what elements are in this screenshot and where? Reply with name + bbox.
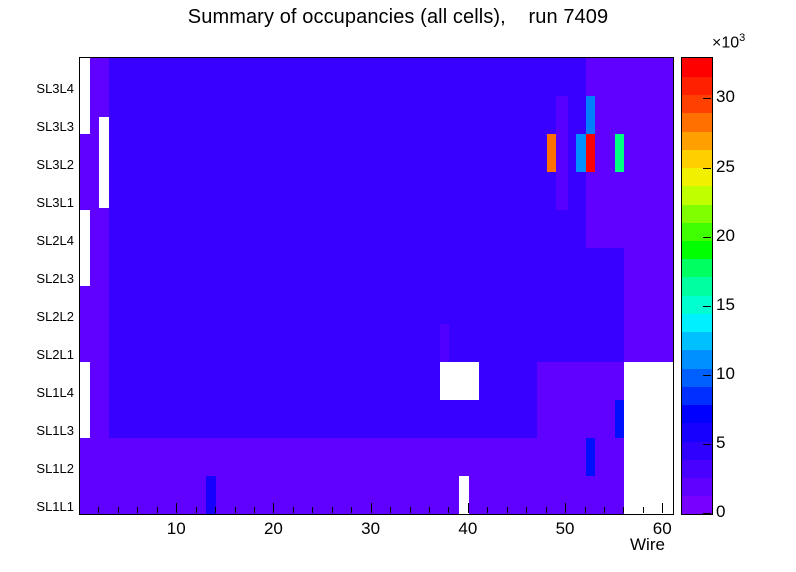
x-tick-6	[137, 507, 138, 513]
y-tick-label-SL1L3: SL1L3	[0, 423, 74, 438]
x-tick-36	[429, 507, 430, 513]
heatmap-right-edge-column	[624, 58, 673, 362]
heatmap-empty-sl1l4-w38-41	[440, 362, 479, 400]
colorbar-segment-8	[682, 350, 712, 369]
x-tick-58	[643, 507, 644, 513]
heatmap-cell-hot-sl3l2-w49b	[547, 134, 557, 172]
x-tick-label-50: 50	[545, 519, 585, 539]
x-tick-14	[215, 507, 216, 513]
colorbar-segment-5	[682, 405, 712, 424]
x-tick-18	[254, 507, 255, 513]
colorbar[interactable]	[681, 57, 713, 515]
y-tick-label-SL1L1: SL1L1	[0, 499, 74, 514]
y-tick-label-SL3L2: SL3L2	[0, 157, 74, 172]
heatmap-cell-sl2l1-w38	[440, 324, 450, 362]
colorbar-segment-10	[682, 313, 712, 332]
heatmap-empty-sl2l4-w1	[80, 210, 90, 248]
x-tick-48	[546, 507, 547, 513]
x-tick-50	[565, 503, 566, 513]
colorbar-segment-14	[682, 240, 712, 259]
colorbar-segment-18	[682, 167, 712, 186]
colorbar-segment-17	[682, 186, 712, 205]
x-tick-26	[332, 507, 333, 513]
colorbar-tick-20	[703, 237, 711, 238]
heatmap-plot-area[interactable]	[79, 57, 674, 515]
x-tick-16	[235, 507, 236, 513]
y-tick-label-SL1L2: SL1L2	[0, 461, 74, 476]
x-tick-46	[526, 507, 527, 513]
y-tick-label-SL1L4: SL1L4	[0, 385, 74, 400]
x-tick-52	[585, 507, 586, 513]
heatmap-cell-sl3-w50	[556, 96, 568, 210]
x-tick-28	[351, 507, 352, 513]
colorbar-segment-15	[682, 222, 712, 241]
heatmap-cell-hot-sl3l2-w52b	[576, 134, 586, 172]
heatmap-empty-sl3-w3	[99, 117, 109, 208]
colorbar-tick-0	[703, 513, 711, 514]
x-tick-4	[118, 507, 119, 513]
y-tick-label-SL2L4: SL2L4	[0, 233, 74, 248]
heatmap-empty-sl2l3-w1	[80, 248, 90, 286]
x-tick-12	[196, 507, 197, 513]
x-tick-30	[371, 503, 372, 513]
y-tick-label-SL3L4: SL3L4	[0, 81, 74, 96]
x-tick-38	[448, 507, 449, 513]
colorbar-segment-13	[682, 259, 712, 278]
x-tick-2	[98, 507, 99, 513]
y-tick-label-SL2L2: SL2L2	[0, 309, 74, 324]
x-tick-34	[410, 507, 411, 513]
colorbar-segment-23	[682, 76, 712, 95]
heatmap-lower-right-patch2	[508, 438, 625, 514]
colorbar-tick-5	[703, 444, 711, 445]
heatmap-cell-hot-sl3l2-w56b	[615, 134, 625, 172]
heatmap-cell-hot-sl3l2-w53b	[586, 134, 596, 172]
colorbar-segment-16	[682, 204, 712, 223]
x-tick-44	[507, 507, 508, 513]
x-tick-label-30: 30	[351, 519, 391, 539]
x-tick-54	[604, 507, 605, 513]
x-tick-56	[623, 507, 624, 513]
x-tick-20	[273, 503, 274, 513]
colorbar-segment-1	[682, 478, 712, 497]
chart-canvas: Summary of occupancies (all cells), run …	[0, 0, 796, 572]
heatmap-cell-sl1l2-w53	[586, 438, 596, 476]
chart-title: Summary of occupancies (all cells), run …	[0, 6, 796, 29]
x-tick-32	[390, 507, 391, 513]
colorbar-segment-2	[682, 459, 712, 478]
y-tick-label-SL3L1: SL3L1	[0, 195, 74, 210]
colorbar-segment-24	[682, 58, 712, 77]
x-tick-label-40: 40	[448, 519, 488, 539]
heatmap-bottom-left	[80, 438, 109, 514]
colorbar-segment-21	[682, 113, 712, 132]
x-tick-60	[662, 503, 663, 513]
colorbar-exponent: ×103	[712, 32, 745, 52]
y-tick-label-SL3L3: SL3L3	[0, 119, 74, 134]
heatmap-empty-sl1l3-w1	[80, 400, 90, 438]
colorbar-segment-9	[682, 332, 712, 351]
y-tick-label-SL2L1: SL2L1	[0, 347, 74, 362]
heatmap-empty-right-lower2	[624, 400, 673, 514]
heatmap-empty-sl3l3-w1	[80, 96, 90, 134]
x-tick-40	[468, 503, 469, 513]
colorbar-tick-label-20: 20	[716, 226, 735, 246]
colorbar-tick-10	[703, 375, 711, 376]
colorbar-tick-label-25: 25	[716, 157, 735, 177]
y-tick-label-SL2L3: SL2L3	[0, 271, 74, 286]
colorbar-tick-label-15: 15	[716, 295, 735, 315]
colorbar-tick-15	[703, 306, 711, 307]
x-axis-title: Wire	[630, 535, 665, 555]
x-tick-22	[293, 507, 294, 513]
x-tick-label-20: 20	[253, 519, 293, 539]
colorbar-segment-0	[682, 496, 712, 515]
colorbar-tick-label-0: 0	[716, 502, 725, 522]
colorbar-segment-19	[682, 149, 712, 168]
x-tick-10	[176, 503, 177, 513]
heatmap-cell-sl1l3-w56	[615, 400, 625, 438]
colorbar-tick-30	[703, 98, 711, 99]
colorbar-tick-label-10: 10	[716, 364, 735, 384]
colorbar-segment-6	[682, 386, 712, 405]
x-tick-8	[157, 507, 158, 513]
heatmap-empty-sl1l4-w1	[80, 362, 90, 400]
colorbar-tick-label-5: 5	[716, 433, 725, 453]
x-tick-42	[487, 507, 488, 513]
x-tick-24	[312, 507, 313, 513]
heatmap-cell-hot-sl3l3-w53	[586, 96, 596, 134]
colorbar-segment-12	[682, 277, 712, 296]
colorbar-segment-7	[682, 368, 712, 387]
colorbar-segment-20	[682, 131, 712, 150]
colorbar-tick-25	[703, 168, 711, 169]
heatmap-empty-sl3l4-w1	[80, 58, 90, 96]
colorbar-tick-label-30: 30	[716, 87, 735, 107]
colorbar-segment-4	[682, 423, 712, 442]
heatmap-cells	[80, 58, 673, 514]
x-tick-label-10: 10	[156, 519, 196, 539]
colorbar-segment-11	[682, 295, 712, 314]
